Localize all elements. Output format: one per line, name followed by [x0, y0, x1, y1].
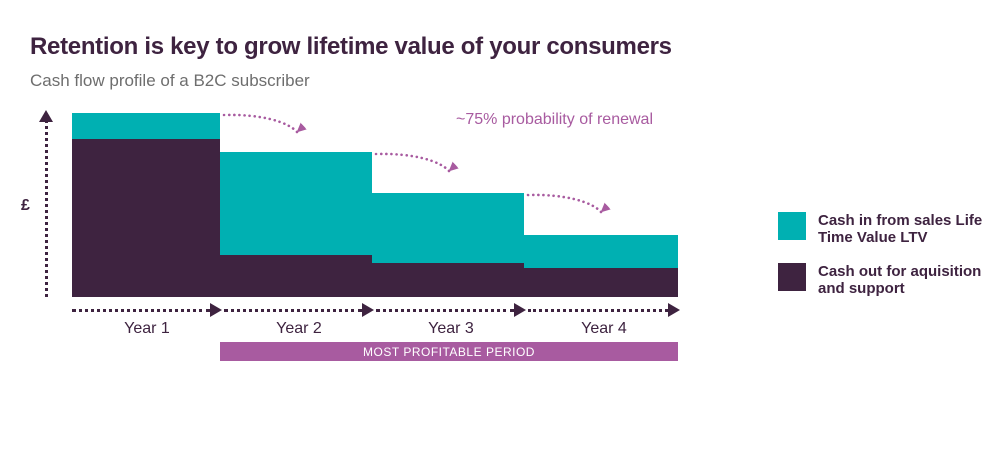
year-track-dots — [224, 309, 362, 312]
x-axis-label-year-4: Year 4 — [528, 320, 680, 338]
legend-label-cash-out: Cash out for aquisition and support — [818, 263, 998, 298]
year-track-4 — [528, 303, 680, 317]
most-profitable-period-band: MOST PROFITABLE PERIOD — [220, 342, 678, 361]
chart-legend: Cash in from sales Life Time Value LTV C… — [778, 212, 998, 313]
x-axis-label-year-1: Year 1 — [72, 320, 222, 338]
renewal-arrow-2 — [376, 154, 449, 171]
year-track-arrow-icon — [514, 303, 526, 317]
year-track-arrow-icon — [668, 303, 680, 317]
legend-swatch-cash-in — [778, 212, 806, 240]
legend-item-cash-out: Cash out for aquisition and support — [778, 263, 998, 298]
legend-swatch-cash-out — [778, 263, 806, 291]
chart-plot-area: £ ~75% probability of renewal — [0, 0, 720, 380]
renewal-annotation-label: ~75% probability of renewal — [456, 111, 653, 129]
x-axis-label-year-3: Year 3 — [376, 320, 526, 338]
renewal-arrow-3 — [528, 195, 601, 212]
year-track-dots — [72, 309, 210, 312]
legend-item-cash-in: Cash in from sales Life Time Value LTV — [778, 212, 998, 247]
legend-label-cash-in: Cash in from sales Life Time Value LTV — [818, 212, 998, 247]
year-track-1 — [72, 303, 222, 317]
year-track-arrow-icon — [362, 303, 374, 317]
year-track-dots — [376, 309, 514, 312]
year-track-3 — [376, 303, 526, 317]
x-axis-label-year-2: Year 2 — [224, 320, 374, 338]
renewal-arrow-1 — [224, 115, 297, 132]
year-track-dots — [528, 309, 668, 312]
year-track-2 — [224, 303, 374, 317]
year-track-arrow-icon — [210, 303, 222, 317]
